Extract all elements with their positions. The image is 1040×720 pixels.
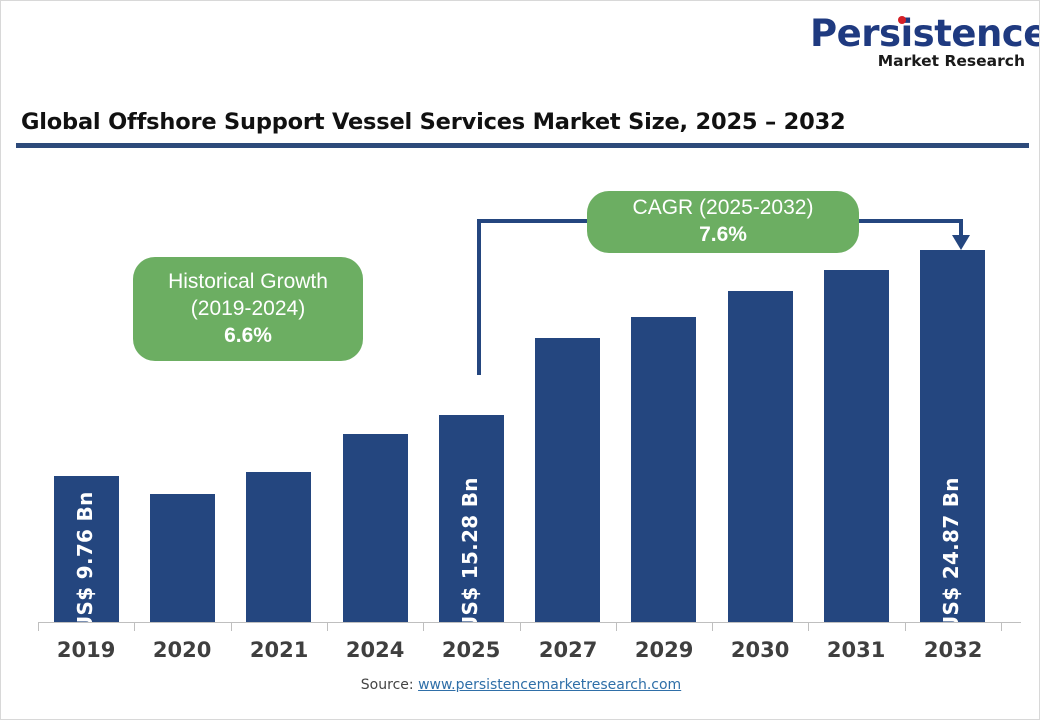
axis-tick (134, 622, 135, 631)
axis-tick (423, 622, 424, 631)
bar-2021 (246, 472, 311, 622)
callout-cagr-line1: CAGR (2025-2032) (633, 194, 814, 221)
bar-2027 (535, 338, 600, 622)
x-axis-label-2025: 2025 (423, 638, 519, 662)
axis-tick (808, 622, 809, 631)
source-link[interactable]: www.persistencemarketresearch.com (418, 677, 681, 693)
callout-cagr-value: 7.6% (699, 221, 747, 249)
x-axis-label-2024: 2024 (327, 638, 423, 662)
bar-value-label-2019: US$ 9.76 Bn (73, 491, 97, 632)
axis-tick (231, 622, 232, 631)
x-axis-label-2032: 2032 (905, 638, 1001, 662)
source-note: Source: www.persistencemarketresearch.co… (1, 677, 1040, 693)
bar-value-label-2025: US$ 15.28 Bn (458, 477, 482, 632)
axis-tick (38, 622, 39, 631)
callout-historical-line1: Historical Growth (168, 268, 328, 295)
bar-2031 (824, 270, 889, 622)
axis-tick (520, 622, 521, 631)
axis-tick (616, 622, 617, 631)
x-axis-label-2021: 2021 (231, 638, 327, 662)
axis-tick (1001, 622, 1002, 631)
bar-2024 (343, 434, 408, 622)
source-prefix: Source: (361, 677, 414, 693)
callout-cagr: CAGR (2025-2032) 7.6% (587, 191, 859, 253)
callout-historical-growth: Historical Growth (2019-2024) 6.6% (133, 257, 363, 361)
bar-2029 (631, 317, 696, 622)
x-axis-label-2027: 2027 (520, 638, 616, 662)
callout-historical-line2: (2019-2024) (191, 295, 305, 322)
axis-tick (327, 622, 328, 631)
bar-2020 (150, 494, 215, 622)
x-axis-label-2020: 2020 (134, 638, 230, 662)
x-axis-line (38, 622, 1021, 623)
axis-tick (905, 622, 906, 631)
x-axis-label-2031: 2031 (808, 638, 904, 662)
x-axis-label-2030: 2030 (712, 638, 808, 662)
bar-value-label-2032: US$ 24.87 Bn (939, 477, 963, 632)
x-axis-label-2019: 2019 (38, 638, 134, 662)
callout-historical-value: 6.6% (224, 322, 272, 350)
x-axis-label-2029: 2029 (616, 638, 712, 662)
axis-tick (712, 622, 713, 631)
bar-2030 (728, 291, 793, 622)
chart-page: Persistence Market Research Global Offsh… (0, 0, 1040, 720)
